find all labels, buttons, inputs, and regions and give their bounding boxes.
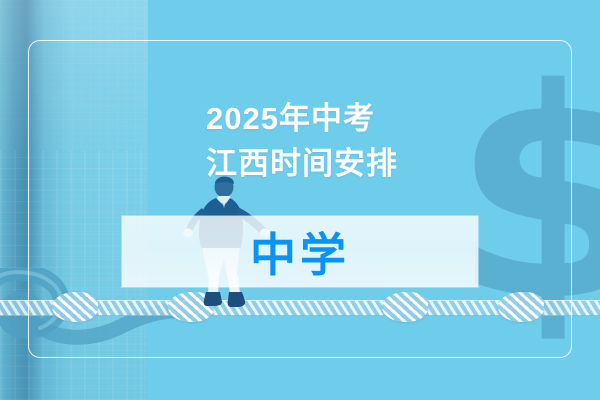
decorative-frame-border — [28, 40, 572, 358]
headline-line-1: 2025年中考 — [206, 96, 486, 141]
poster-canvas: $ 2025年中 — [0, 0, 600, 400]
headline-line-2: 江西时间安排 — [206, 141, 486, 186]
headline-title: 2025年中考 江西时间安排 — [206, 96, 486, 186]
category-label: 中学 — [122, 216, 478, 287]
